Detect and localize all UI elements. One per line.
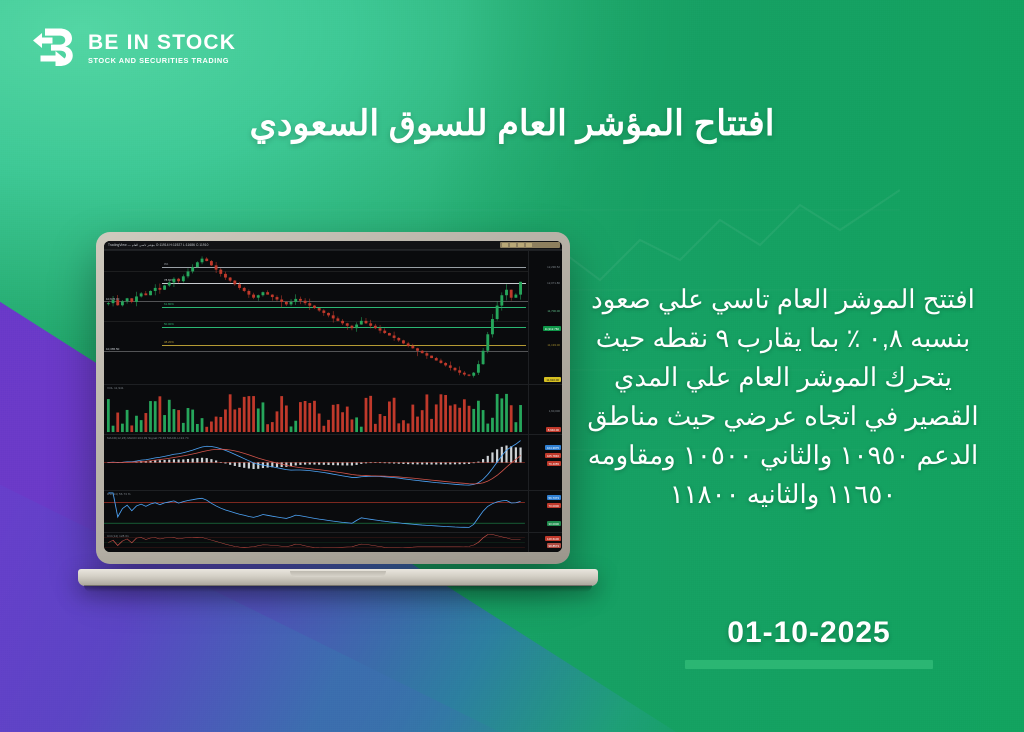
publish-date: 01-10-2025 bbox=[659, 616, 959, 650]
toolbar-chip[interactable] bbox=[502, 243, 508, 247]
volume-pane[interactable]: VOL 11,941 1,60,000 8,940.00 bbox=[104, 384, 562, 434]
toolbar-chip[interactable] bbox=[510, 243, 516, 247]
candlestick-series bbox=[104, 251, 562, 384]
rsi-pane[interactable]: RSI(14) 56.73 % 56.7373 70.0000 30.0000 bbox=[104, 490, 562, 532]
terminal-topbar: TradingView — مؤشر تاسي العام O:11914 H:… bbox=[104, 241, 562, 250]
laptop-base-shadow bbox=[84, 585, 592, 592]
terminal-title: TradingView — مؤشر تاسي العام O:11914 H:… bbox=[104, 243, 209, 247]
laptop-lid: TradingView — مؤشر تاسي العام O:11914 H:… bbox=[96, 232, 570, 564]
laptop-mockup: TradingView — مؤشر تاسي العام O:11914 H:… bbox=[78, 232, 598, 592]
article-body-text: افتتح الموشر العام تاسي علي صعود بنسبه ٠… bbox=[578, 280, 988, 514]
date-underline-bar bbox=[685, 660, 933, 669]
date-block: 01-10-2025 bbox=[659, 616, 959, 669]
brand-name: BE IN STOCK bbox=[88, 32, 236, 53]
volume-bars bbox=[104, 385, 562, 434]
brand-tagline: STOCK AND SECURITIES TRADING bbox=[88, 57, 236, 64]
cci-pane[interactable]: CCI(14) 128.61 128.6100 98.8573 0.0000 -… bbox=[104, 532, 562, 552]
terminal-toolbar[interactable] bbox=[500, 242, 560, 248]
cci-series bbox=[104, 533, 562, 552]
laptop-screen: TradingView — مؤشر تاسي العام O:11914 H:… bbox=[104, 241, 562, 552]
page-title: افتتاح المؤشر العام للسوق السعودي bbox=[0, 104, 1024, 144]
macd-pane[interactable]: MACD(12,26) MACD:104.39 Signal:79.40 MAC… bbox=[104, 434, 562, 490]
toolbar-chip[interactable] bbox=[526, 243, 532, 247]
laptop-base-notch bbox=[290, 571, 386, 577]
trading-terminal: TradingView — مؤشر تاسي العام O:11914 H:… bbox=[104, 241, 562, 552]
toolbar-chip[interactable] bbox=[518, 243, 524, 247]
price-pane[interactable]: 12,290.52 12,071.80 11,700.00 11,649.50 … bbox=[104, 250, 562, 384]
double-arrow-b-logo-icon bbox=[30, 24, 78, 72]
brand-logo: BE IN STOCK STOCK AND SECURITIES TRADING bbox=[30, 24, 236, 72]
rsi-series bbox=[104, 491, 562, 532]
laptop-base bbox=[78, 569, 598, 586]
macd-series bbox=[104, 435, 562, 490]
